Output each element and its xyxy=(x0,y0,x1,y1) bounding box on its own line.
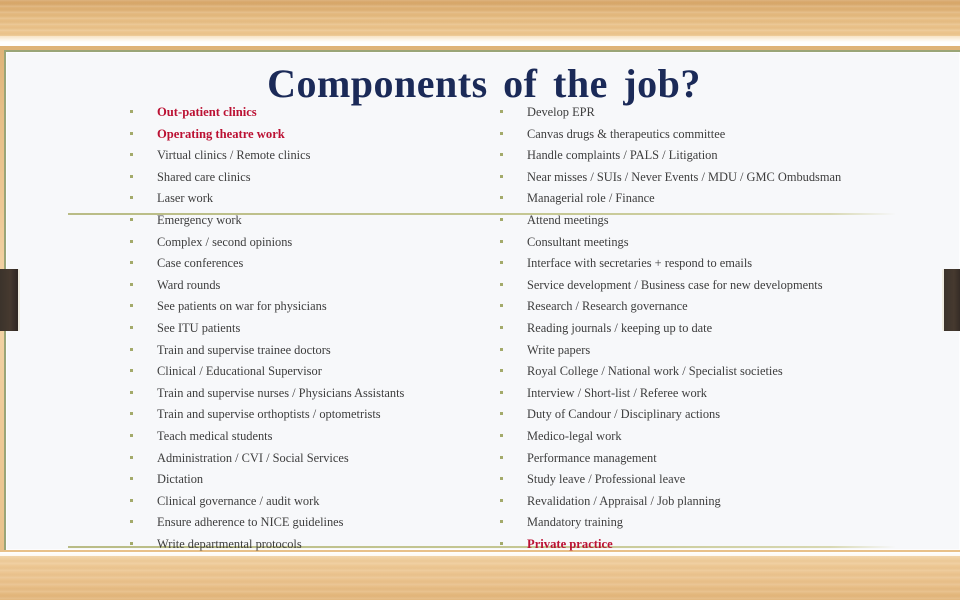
square-bullet-icon xyxy=(130,492,157,514)
square-bullet-icon xyxy=(130,254,157,276)
list-item-label: Clinical governance / audit work xyxy=(157,491,319,513)
list-item: Teach medical students xyxy=(130,426,490,448)
square-bullet-icon xyxy=(130,103,157,125)
list-item: Administration / CVI / Social Services xyxy=(130,448,490,470)
list-item-label: Write papers xyxy=(527,340,590,362)
square-bullet-icon xyxy=(500,146,527,168)
list-item-label: Attend meetings xyxy=(527,210,609,232)
square-bullet-icon xyxy=(130,384,157,406)
list-item-label: Virtual clinics / Remote clinics xyxy=(157,145,310,167)
list-item-label: Near misses / SUIs / Never Events / MDU … xyxy=(527,167,841,189)
desk-highlight-top xyxy=(0,36,960,46)
list-item: Service development / Business case for … xyxy=(500,275,920,297)
square-bullet-icon xyxy=(130,362,157,384)
square-bullet-icon xyxy=(130,513,157,535)
list-item-label: Operating theatre work xyxy=(157,124,285,146)
list-item: Virtual clinics / Remote clinics xyxy=(130,145,490,167)
list-item: Canvas drugs & therapeutics committee xyxy=(500,124,920,146)
square-bullet-icon xyxy=(500,297,527,319)
square-bullet-icon xyxy=(500,319,527,341)
list-item-label: Consultant meetings xyxy=(527,232,629,254)
square-bullet-icon xyxy=(130,319,157,341)
list-item: See patients on war for physicians xyxy=(130,296,490,318)
list-item-label: See ITU patients xyxy=(157,318,240,340)
list-item: Handle complaints / PALS / Litigation xyxy=(500,145,920,167)
list-item: Managerial role / Finance xyxy=(500,188,920,210)
list-item-label: Out-patient clinics xyxy=(157,102,257,124)
square-bullet-icon xyxy=(500,405,527,427)
list-item: Laser work xyxy=(130,188,490,210)
list-item: Ward rounds xyxy=(130,275,490,297)
page-title: Components of the job? xyxy=(6,60,960,107)
list-item: Interview / Short-list / Referee work xyxy=(500,383,920,405)
square-bullet-icon xyxy=(130,168,157,190)
page-edge-tab-right xyxy=(942,269,960,331)
list-item: Research / Research governance xyxy=(500,296,920,318)
list-item-label: Case conferences xyxy=(157,253,243,275)
list-item-label: Train and supervise orthoptists / optome… xyxy=(157,404,381,426)
square-bullet-icon xyxy=(130,341,157,363)
square-bullet-icon xyxy=(500,211,527,233)
bullet-list-left: Out-patient clinicsOperating theatre wor… xyxy=(130,102,490,555)
list-item: Medico-legal work xyxy=(500,426,920,448)
list-item-label: Medico-legal work xyxy=(527,426,622,448)
list-item-label: Ensure adherence to NICE guidelines xyxy=(157,512,343,534)
list-item-label: Study leave / Professional leave xyxy=(527,469,685,491)
list-item-label: Mandatory training xyxy=(527,512,623,534)
square-bullet-icon xyxy=(130,146,157,168)
square-bullet-icon xyxy=(500,125,527,147)
list-item-label: Research / Research governance xyxy=(527,296,688,318)
square-bullet-icon xyxy=(500,276,527,298)
square-bullet-icon xyxy=(500,513,527,535)
list-item: Emergency work xyxy=(130,210,490,232)
list-item-label: Train and supervise trainee doctors xyxy=(157,340,331,362)
list-item-label: Revalidation / Appraisal / Job planning xyxy=(527,491,721,513)
presentation-stage: Components of the job? Out-patient clini… xyxy=(0,0,960,600)
square-bullet-icon xyxy=(130,297,157,319)
list-item: Clinical / Educational Supervisor xyxy=(130,361,490,383)
square-bullet-icon xyxy=(130,125,157,147)
list-item-label: Teach medical students xyxy=(157,426,272,448)
square-bullet-icon xyxy=(130,405,157,427)
list-item-label: See patients on war for physicians xyxy=(157,296,327,318)
list-item: Interface with secretaries + respond to … xyxy=(500,253,920,275)
square-bullet-icon xyxy=(130,427,157,449)
square-bullet-icon xyxy=(500,449,527,471)
square-bullet-icon xyxy=(130,189,157,211)
list-item: Train and supervise orthoptists / optome… xyxy=(130,404,490,426)
list-item: Case conferences xyxy=(130,253,490,275)
list-item: Complex / second opinions xyxy=(130,232,490,254)
list-item-label: Interface with secretaries + respond to … xyxy=(527,253,752,275)
list-item-label: Interview / Short-list / Referee work xyxy=(527,383,707,405)
square-bullet-icon xyxy=(500,233,527,255)
square-bullet-icon xyxy=(500,427,527,449)
slide-panel: Components of the job? Out-patient clini… xyxy=(4,50,960,550)
square-bullet-icon xyxy=(500,254,527,276)
list-item: Out-patient clinics xyxy=(130,102,490,124)
square-bullet-icon xyxy=(130,276,157,298)
list-item-label: Shared care clinics xyxy=(157,167,251,189)
list-item: Reading journals / keeping up to date xyxy=(500,318,920,340)
square-bullet-icon xyxy=(500,168,527,190)
list-item: Operating theatre work xyxy=(130,124,490,146)
list-item-label: Performance management xyxy=(527,448,657,470)
square-bullet-icon xyxy=(500,103,527,125)
square-bullet-icon xyxy=(500,384,527,406)
list-item: Mandatory training xyxy=(500,512,920,534)
list-item-label: Dictation xyxy=(157,469,203,491)
square-bullet-icon xyxy=(130,233,157,255)
list-item: Develop EPR xyxy=(500,102,920,124)
list-item: Duty of Candour / Disciplinary actions xyxy=(500,404,920,426)
list-item: Revalidation / Appraisal / Job planning xyxy=(500,491,920,513)
list-item-label: Managerial role / Finance xyxy=(527,188,655,210)
list-item: Train and supervise trainee doctors xyxy=(130,340,490,362)
page-edge-tab-left xyxy=(0,269,20,331)
list-item-label: Royal College / National work / Speciali… xyxy=(527,361,783,383)
square-bullet-icon xyxy=(130,470,157,492)
square-bullet-icon xyxy=(500,492,527,514)
square-bullet-icon xyxy=(500,470,527,492)
list-item-label: Handle complaints / PALS / Litigation xyxy=(527,145,718,167)
list-item: See ITU patients xyxy=(130,318,490,340)
list-item-label: Ward rounds xyxy=(157,275,220,297)
list-item-label: Canvas drugs & therapeutics committee xyxy=(527,124,725,146)
list-item-label: Emergency work xyxy=(157,210,242,232)
list-item-label: Train and supervise nurses / Physicians … xyxy=(157,383,404,405)
square-bullet-icon xyxy=(500,362,527,384)
list-item-label: Clinical / Educational Supervisor xyxy=(157,361,322,383)
list-item: Clinical governance / audit work xyxy=(130,491,490,513)
list-item: Write papers xyxy=(500,340,920,362)
list-item: Near misses / SUIs / Never Events / MDU … xyxy=(500,167,920,189)
square-bullet-icon xyxy=(130,211,157,233)
list-item: Study leave / Professional leave xyxy=(500,469,920,491)
list-item: Ensure adherence to NICE guidelines xyxy=(130,512,490,534)
bullet-list-right: Develop EPRCanvas drugs & therapeutics c… xyxy=(500,102,920,555)
list-item-label: Duty of Candour / Disciplinary actions xyxy=(527,404,720,426)
list-item-label: Service development / Business case for … xyxy=(527,275,823,297)
list-item-label: Complex / second opinions xyxy=(157,232,292,254)
list-item: Train and supervise nurses / Physicians … xyxy=(130,383,490,405)
list-item: Consultant meetings xyxy=(500,232,920,254)
list-item: Performance management xyxy=(500,448,920,470)
list-item-label: Reading journals / keeping up to date xyxy=(527,318,712,340)
list-item-label: Laser work xyxy=(157,188,213,210)
list-item-label: Develop EPR xyxy=(527,102,595,124)
list-item: Dictation xyxy=(130,469,490,491)
square-bullet-icon xyxy=(130,449,157,471)
list-item: Attend meetings xyxy=(500,210,920,232)
square-bullet-icon xyxy=(500,341,527,363)
list-item: Shared care clinics xyxy=(130,167,490,189)
desk-surface-bottom xyxy=(0,556,960,600)
list-item-label: Administration / CVI / Social Services xyxy=(157,448,349,470)
list-item: Royal College / National work / Speciali… xyxy=(500,361,920,383)
square-bullet-icon xyxy=(500,189,527,211)
